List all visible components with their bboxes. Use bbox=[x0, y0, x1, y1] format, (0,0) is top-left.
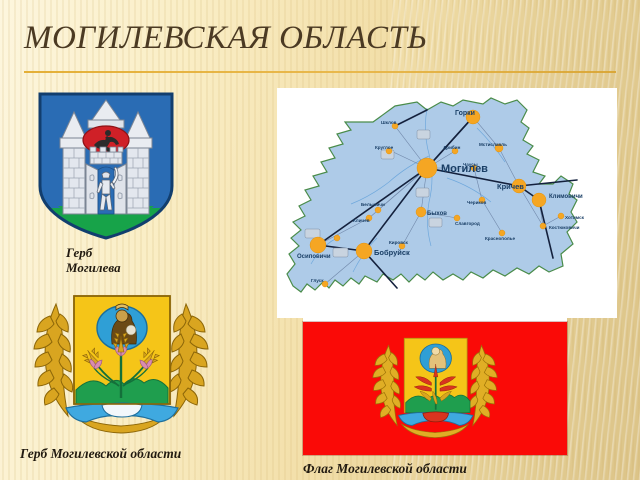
svg-text:Глуск: Глуск bbox=[311, 278, 324, 283]
title-divider bbox=[24, 71, 616, 73]
svg-text:Чаусы: Чаусы bbox=[463, 162, 478, 167]
svg-text:Кировск: Кировск bbox=[389, 240, 409, 245]
page-title: МОГИЛЕВСКАЯ ОБЛАСТЬ bbox=[24, 19, 614, 57]
coat-of-arms-region-svg bbox=[16, 286, 226, 444]
svg-text:Дрибин: Дрибин bbox=[443, 144, 461, 150]
svg-text:Круглое: Круглое bbox=[375, 145, 394, 150]
svg-text:Краснополье: Краснополье bbox=[485, 236, 516, 241]
coat-of-arms-mogilev-svg bbox=[36, 90, 176, 240]
map-panel: Могилев Горки Кричев Климовичи Бобруйск … bbox=[277, 88, 617, 318]
coat-of-arms-mogilev bbox=[36, 90, 176, 240]
flag-emblem bbox=[360, 329, 510, 449]
svg-text:Белыничи: Белыничи bbox=[361, 202, 385, 207]
blue-ribbon bbox=[399, 412, 473, 426]
mogilev-region-map: Могилев Горки Кричев Климовичи Бобруйск … bbox=[277, 88, 617, 318]
wreath-left bbox=[373, 345, 401, 425]
caption-mogilev-arms: Герб Могилева bbox=[66, 245, 121, 275]
flag-top-strip bbox=[303, 310, 567, 322]
svg-text:Бобруйск: Бобруйск bbox=[374, 248, 410, 257]
caption-region-flag: Флаг Могилевской области bbox=[303, 461, 467, 476]
svg-text:Быхов: Быхов bbox=[427, 211, 447, 217]
wreath-right bbox=[470, 345, 498, 425]
blue-ribbon bbox=[66, 403, 178, 422]
svg-text:Мстиславль: Мстиславль bbox=[479, 142, 507, 147]
coat-of-arms-mogilev-region bbox=[16, 286, 226, 444]
svg-text:Шклов: Шклов bbox=[381, 120, 397, 125]
green-hills bbox=[406, 395, 470, 413]
wreath-right bbox=[169, 304, 208, 416]
svg-text:Хотимск: Хотимск bbox=[565, 215, 585, 220]
svg-text:Славгород: Славгород bbox=[455, 221, 480, 226]
caption-region-arms: Герб Могилевской области bbox=[20, 446, 181, 461]
svg-text:Кличев: Кличев bbox=[353, 218, 370, 223]
svg-text:Климовичи: Климовичи bbox=[549, 194, 583, 200]
svg-text:Осиповичи: Осиповичи bbox=[297, 254, 331, 260]
wreath-left bbox=[34, 304, 73, 416]
svg-text:Горки: Горки bbox=[455, 110, 475, 117]
svg-text:Кричев: Кричев bbox=[497, 182, 524, 191]
flag-mogilev-region bbox=[303, 322, 567, 455]
svg-text:Костюковичи: Костюковичи bbox=[549, 225, 580, 230]
wreath-tie bbox=[401, 424, 468, 438]
flag-emblem-svg bbox=[360, 329, 510, 449]
svg-text:Чериков: Чериков bbox=[467, 200, 486, 205]
